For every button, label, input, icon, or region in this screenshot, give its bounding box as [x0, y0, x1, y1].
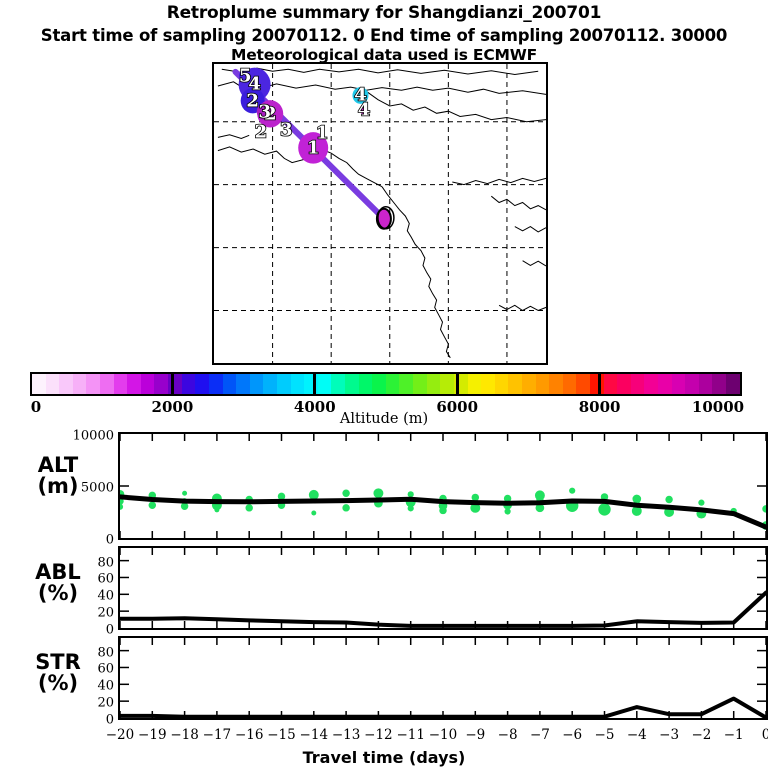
x-tick-label: −1 [724, 727, 744, 743]
colorbar-swatch [209, 374, 223, 394]
retroplume-map[interactable]: 54223234411 [212, 62, 548, 365]
coastline [499, 305, 546, 310]
colorbar-swatch [617, 374, 631, 394]
abl-plot[interactable] [118, 546, 768, 630]
alt-plot-canvas [120, 434, 766, 538]
coastline [523, 261, 546, 266]
colorbar-swatch [154, 374, 168, 394]
y-tick-label: 20 [44, 606, 114, 621]
x-tick-label: 0 [762, 727, 768, 743]
coastline [491, 196, 546, 210]
colorbar-swatch [726, 374, 740, 394]
x-tick-label: −17 [203, 727, 232, 743]
scatter-dot [698, 500, 704, 506]
colorbar-swatch [522, 374, 536, 394]
y-tick-label: 60 [44, 662, 114, 677]
x-tick-label: −10 [429, 727, 458, 743]
x-tick-label: −6 [562, 727, 582, 743]
colorbar-gradient [30, 372, 742, 396]
colorbar-swatch [413, 374, 427, 394]
colorbar-swatch [223, 374, 237, 394]
colorbar-swatch [86, 374, 100, 394]
scatter-dot [408, 505, 414, 511]
colorbar-swatch [141, 374, 155, 394]
x-axis-title: Travel time (days) [0, 748, 768, 767]
y-tick-label: 5000 [44, 481, 114, 496]
colorbar-swatch [345, 374, 359, 394]
colorbar-swatch [536, 374, 550, 394]
scatter-dot [598, 503, 610, 515]
series-line [120, 593, 766, 626]
colorbar-divider [313, 372, 316, 396]
coastline [366, 91, 546, 121]
colorbar-divider [171, 372, 174, 396]
colorbar-tick-label: 0 [31, 398, 41, 416]
colorbar-swatch [100, 374, 114, 394]
colorbar-swatch [236, 374, 250, 394]
y-tick-label: 80 [44, 645, 114, 660]
x-tick-label: −18 [170, 727, 199, 743]
colorbar-swatch [277, 374, 291, 394]
alt-plot[interactable] [118, 432, 768, 540]
colorbar-divider [456, 372, 459, 396]
y-tick-label: 0 [44, 533, 114, 548]
colorbar-swatch [46, 374, 60, 394]
scatter-dot [181, 503, 188, 510]
x-tick-label: −20 [106, 727, 135, 743]
colorbar-swatch [114, 374, 128, 394]
coastline [218, 135, 249, 139]
colorbar-swatch [685, 374, 699, 394]
colorbar-swatch [658, 374, 672, 394]
colorbar-swatch [399, 374, 413, 394]
altitude-colorbar[interactable] [30, 372, 742, 396]
colorbar-swatch [440, 374, 454, 394]
colorbar-swatch [631, 374, 645, 394]
colorbar-swatch [372, 374, 386, 394]
x-tick-label: −9 [465, 727, 485, 743]
scatter-dot [665, 496, 672, 503]
plume-blob[interactable] [352, 87, 368, 104]
colorbar-swatch [427, 374, 441, 394]
scatter-dot [245, 504, 252, 511]
y-tick-label: 0 [44, 623, 114, 638]
scatter-dot [569, 488, 575, 494]
colorbar-swatch [604, 374, 618, 394]
colorbar-tick-label: 4000 [294, 398, 336, 416]
colorbar-swatch [672, 374, 686, 394]
colorbar-swatch [508, 374, 522, 394]
str-plot-canvas [120, 638, 766, 718]
scatter-dot [311, 511, 316, 516]
colorbar-tick-label: 8000 [579, 398, 621, 416]
colorbar-swatch [563, 374, 577, 394]
colorbar-swatch [712, 374, 726, 394]
y-tick-label: 40 [44, 679, 114, 694]
str-plot[interactable] [118, 636, 768, 720]
map-canvas [214, 64, 546, 363]
colorbar-swatch [359, 374, 373, 394]
y-tick-label: 80 [44, 555, 114, 570]
colorbar-swatch [699, 374, 713, 394]
plume-blob[interactable] [257, 103, 273, 120]
scatter-dot [505, 508, 511, 514]
x-tick-label: −3 [659, 727, 679, 743]
y-tick-label: 20 [44, 696, 114, 711]
x-tick-label: −7 [530, 727, 550, 743]
alt-axis-label-line1: ALT [8, 455, 108, 476]
colorbar-tick-label: 6000 [436, 398, 478, 416]
colorbar-swatch [576, 374, 590, 394]
x-tick-label: −11 [396, 727, 425, 743]
y-tick-label: 60 [44, 572, 114, 587]
scatter-dot [342, 490, 349, 497]
x-tick-label: −4 [627, 727, 647, 743]
scatter-dot [439, 507, 446, 514]
x-tick-label: −15 [267, 727, 296, 743]
colorbar-divider [598, 372, 601, 396]
coastline [452, 178, 546, 184]
sampling-time-label: Start time of sampling 20070112. 0 End t… [0, 26, 768, 45]
scatter-dot [762, 505, 766, 512]
colorbar-swatch [590, 374, 604, 394]
colorbar-title: Altitude (m) [0, 411, 768, 427]
colorbar-swatch [59, 374, 73, 394]
colorbar-swatch [481, 374, 495, 394]
scatter-dot [214, 507, 219, 512]
series-line [120, 699, 766, 718]
colorbar-swatch [495, 374, 509, 394]
x-tick-label: −13 [332, 727, 361, 743]
scatter-dot [408, 491, 414, 497]
x-tick-label: −8 [498, 727, 518, 743]
colorbar-swatch [318, 374, 332, 394]
scatter-dot [373, 488, 383, 498]
scatter-dot [182, 491, 187, 496]
x-tick-label: −12 [364, 727, 393, 743]
x-tick-label: −16 [235, 727, 264, 743]
scatter-dot [309, 490, 319, 500]
colorbar-tick-label: 10000 [692, 398, 744, 416]
colorbar-swatch [182, 374, 196, 394]
colorbar-tick-label: 2000 [152, 398, 194, 416]
colorbar-swatch [468, 374, 482, 394]
colorbar-swatch [127, 374, 141, 394]
x-tick-label: −19 [138, 727, 167, 743]
colorbar-swatch [386, 374, 400, 394]
scatter-dot [120, 504, 123, 510]
y-tick-label: 0 [44, 713, 114, 728]
colorbar-swatch [331, 374, 345, 394]
scatter-dot [342, 504, 349, 511]
x-tick-label: −2 [691, 727, 711, 743]
colorbar-swatch [195, 374, 209, 394]
y-tick-label: 40 [44, 589, 114, 604]
colorbar-swatch [73, 374, 87, 394]
x-tick-label: −5 [595, 727, 615, 743]
x-tick-label: −14 [300, 727, 329, 743]
plume-blob[interactable] [298, 132, 328, 164]
coastline [515, 227, 546, 232]
colorbar-swatch [263, 374, 277, 394]
abl-plot-canvas [120, 548, 766, 628]
colorbar-swatch [291, 374, 305, 394]
colorbar-swatch [32, 374, 46, 394]
colorbar-swatch [549, 374, 563, 394]
coastline [222, 68, 538, 74]
y-tick-label: 10000 [44, 429, 114, 444]
colorbar-swatch [250, 374, 264, 394]
scatter-dot [149, 502, 156, 509]
page-title: Retroplume summary for Shangdianzi_20070… [0, 3, 768, 23]
colorbar-swatch [644, 374, 658, 394]
plume-blob[interactable] [360, 106, 368, 114]
